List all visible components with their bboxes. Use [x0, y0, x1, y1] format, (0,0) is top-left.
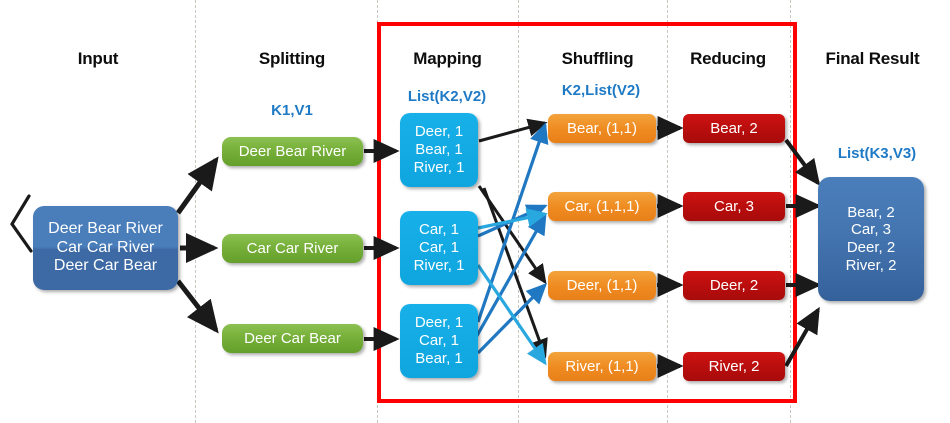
final-result-node[interactable]: Bear, 2 Car, 3 Deer, 2 River, 2: [818, 177, 924, 301]
reduce-node-car[interactable]: Car, 3: [683, 192, 785, 221]
final-line-4: River, 2: [846, 257, 897, 275]
input-bracket-icon: [12, 196, 31, 251]
map-node-3-line-3: Bear, 1: [415, 350, 463, 368]
reduce-node-deer-label: Deer, 2: [710, 277, 758, 295]
input-line-1: Deer Bear River: [48, 220, 163, 239]
shuffle-node-car-label: Car, (1,1,1): [564, 198, 639, 216]
map-node-1-line-2: Bear, 1: [415, 141, 463, 159]
shuffle-node-river-label: River, (1,1): [565, 358, 638, 376]
input-node[interactable]: Deer Bear River Car Car River Deer Car B…: [33, 206, 178, 290]
column-header-mapping: Mapping: [390, 49, 505, 69]
reduce-node-river-label: River, 2: [709, 358, 760, 376]
map-node-3-line-1: Deer, 1: [415, 314, 463, 332]
map-node-2[interactable]: Car, 1 Car, 1 River, 1: [400, 211, 478, 285]
split-node-1-label: Deer Bear River: [239, 143, 347, 161]
input-line-2: Car Car River: [57, 239, 155, 258]
final-line-2: Car, 3: [851, 221, 891, 239]
arrow-input-to-split-3: [178, 281, 216, 330]
split-node-3-label: Deer Car Bear: [244, 330, 341, 348]
column-header-final-result: Final Result: [800, 49, 945, 69]
column-header-shuffling: Shuffling: [535, 49, 660, 69]
split-node-1[interactable]: Deer Bear River: [222, 137, 363, 166]
reduce-node-deer[interactable]: Deer, 2: [683, 271, 785, 300]
column-header-reducing: Reducing: [673, 49, 783, 69]
shuffle-node-deer[interactable]: Deer, (1,1): [548, 271, 656, 300]
map-node-2-line-2: Car, 1: [419, 239, 459, 257]
column-header-input: Input: [38, 49, 158, 69]
column-divider-1: [195, 0, 196, 423]
key-label-list-k3v3: List(K3,V3): [812, 145, 942, 162]
shuffle-node-car[interactable]: Car, (1,1,1): [548, 192, 656, 221]
map-node-1-line-1: Deer, 1: [415, 123, 463, 141]
split-node-3[interactable]: Deer Car Bear: [222, 324, 363, 353]
split-node-2[interactable]: Car Car River: [222, 234, 363, 263]
map-node-1[interactable]: Deer, 1 Bear, 1 River, 1: [400, 113, 478, 187]
shuffle-node-bear-label: Bear, (1,1): [567, 120, 637, 138]
input-line-3: Deer Car Bear: [54, 257, 157, 276]
arrow-input-to-split-1: [178, 160, 216, 213]
mapreduce-diagram: Input Splitting Mapping Shuffling Reduci…: [0, 0, 950, 423]
map-node-3-line-2: Car, 1: [419, 332, 459, 350]
map-node-3[interactable]: Deer, 1 Car, 1 Bear, 1: [400, 304, 478, 378]
map-node-2-line-3: River, 1: [414, 257, 465, 275]
shuffle-node-bear[interactable]: Bear, (1,1): [548, 114, 656, 143]
final-line-3: Deer, 2: [847, 239, 895, 257]
reduce-node-river[interactable]: River, 2: [683, 352, 785, 381]
key-label-k1v1: K1,V1: [232, 102, 352, 119]
reduce-node-bear-label: Bear, 2: [710, 120, 758, 138]
map-node-1-line-3: River, 1: [414, 159, 465, 177]
column-header-splitting: Splitting: [232, 49, 352, 69]
reduce-node-car-label: Car, 3: [714, 198, 754, 216]
split-node-2-label: Car Car River: [247, 240, 339, 258]
reduce-node-bear[interactable]: Bear, 2: [683, 114, 785, 143]
shuffle-node-deer-label: Deer, (1,1): [567, 277, 638, 295]
final-line-1: Bear, 2: [847, 204, 895, 222]
shuffle-node-river[interactable]: River, (1,1): [548, 352, 656, 381]
key-label-k2-listv2: K2,List(V2): [536, 82, 666, 99]
key-label-list-k2v2: List(K2,V2): [382, 88, 512, 105]
map-node-2-line-1: Car, 1: [419, 221, 459, 239]
